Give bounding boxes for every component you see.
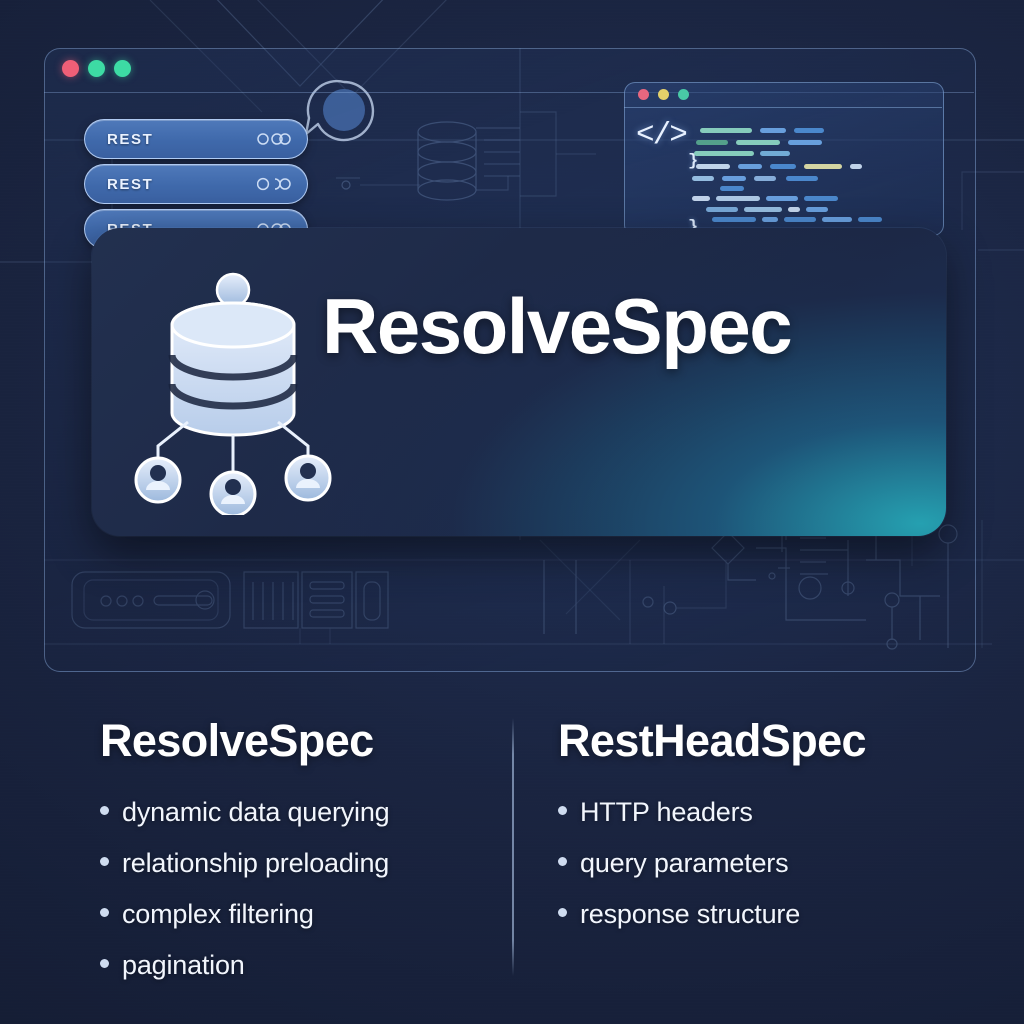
- code-line-bar: [692, 196, 710, 201]
- code-close-dot[interactable]: [638, 89, 649, 100]
- list-item: query parameters: [558, 848, 958, 879]
- code-line-bar: [744, 207, 782, 212]
- rest-pill-2[interactable]: REST: [84, 164, 308, 204]
- window-maximize-dot[interactable]: [114, 60, 131, 77]
- code-editor-titlebar: [624, 82, 942, 108]
- bullet-icon: [100, 959, 109, 968]
- code-line-bar: [700, 128, 752, 133]
- list-item-label: relationship preloading: [122, 848, 389, 879]
- rest-pill-1[interactable]: REST: [84, 119, 308, 159]
- code-line-bar: [692, 176, 714, 181]
- code-line-bar: [794, 128, 824, 133]
- code-line-bar: [784, 217, 816, 222]
- bullet-icon: [558, 806, 567, 815]
- code-line-bar: [716, 196, 760, 201]
- rest-pill-label: REST: [107, 131, 153, 148]
- bullet-icon: [100, 857, 109, 866]
- column-divider: [512, 718, 514, 976]
- code-line-bar: [766, 196, 798, 201]
- code-line-bar: [736, 140, 780, 145]
- code-line-bar: [706, 207, 738, 212]
- code-line-bar: [806, 207, 828, 212]
- code-tag-icon: </>: [636, 118, 686, 153]
- code-line-bar: [788, 140, 822, 145]
- database-network-icon: [118, 250, 348, 515]
- code-line-bar: [754, 176, 776, 181]
- code-line-bar: [804, 196, 838, 201]
- hero-title: ResolveSpec: [322, 287, 791, 365]
- circle-pair-icon: [257, 177, 291, 191]
- list-item-label: response structure: [580, 899, 800, 930]
- window-close-dot[interactable]: [62, 60, 79, 77]
- code-minimize-dot[interactable]: [658, 89, 669, 100]
- code-line-bar: [696, 140, 728, 145]
- column-heading: ResolveSpec: [100, 718, 490, 763]
- code-line-bar: [786, 176, 818, 181]
- list-item: complex filtering: [100, 899, 490, 930]
- window-minimize-dot[interactable]: [88, 60, 105, 77]
- code-line-bar: [720, 186, 744, 191]
- list-item-label: dynamic data querying: [122, 797, 389, 828]
- code-line-bar: [696, 164, 730, 169]
- code-maximize-dot[interactable]: [678, 89, 689, 100]
- list-item: dynamic data querying: [100, 797, 490, 828]
- code-line-bar: [722, 176, 746, 181]
- infinity-icon: [257, 132, 291, 146]
- code-line-bar: [850, 164, 862, 169]
- code-line-bar: [760, 128, 786, 133]
- bullet-icon: [558, 857, 567, 866]
- rest-pill-label: REST: [107, 176, 153, 193]
- code-line-bar: [712, 217, 756, 222]
- column-restheadspec: RestHeadSpec HTTP headers query paramete…: [558, 718, 958, 950]
- code-line-bar: [822, 217, 852, 222]
- column-resolvespec: ResolveSpec dynamic data querying relati…: [100, 718, 490, 1001]
- feature-list: dynamic data querying relationship prelo…: [100, 797, 490, 981]
- rest-pill-badge: [257, 177, 291, 191]
- bullet-icon: [558, 908, 567, 917]
- code-line-bar: [760, 151, 790, 156]
- poster-canvas: REST REST REST: [0, 0, 1024, 1024]
- code-line-bar: [770, 164, 796, 169]
- list-item-label: HTTP headers: [580, 797, 753, 828]
- code-line-bar: [788, 207, 800, 212]
- code-line-bar: [858, 217, 882, 222]
- bullet-icon: [100, 908, 109, 917]
- list-item: pagination: [100, 950, 490, 981]
- list-item: response structure: [558, 899, 958, 930]
- column-heading: RestHeadSpec: [558, 718, 958, 763]
- bullet-icon: [100, 806, 109, 815]
- feature-list: HTTP headers query parameters response s…: [558, 797, 958, 930]
- list-item-label: pagination: [122, 950, 245, 981]
- list-item-label: complex filtering: [122, 899, 314, 930]
- list-item: HTTP headers: [558, 797, 958, 828]
- code-line-bar: [738, 164, 762, 169]
- rest-pill-badge: [257, 132, 291, 146]
- list-item: relationship preloading: [100, 848, 490, 879]
- code-line-bar: [762, 217, 778, 222]
- code-line-bar: [694, 151, 754, 156]
- list-item-label: query parameters: [580, 848, 788, 879]
- code-line-bar: [804, 164, 842, 169]
